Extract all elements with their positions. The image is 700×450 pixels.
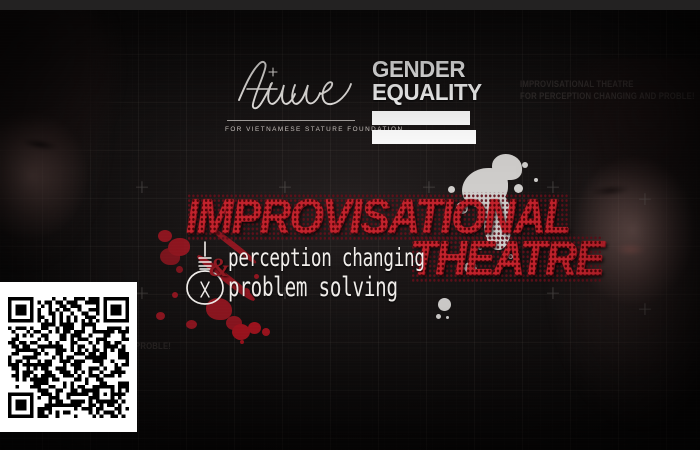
subhead-line-2: problem solving xyxy=(228,273,440,301)
subhead-line-1: perception changing xyxy=(228,246,474,271)
equality-bar-1 xyxy=(372,111,470,125)
top-letterbox-bar xyxy=(0,0,700,10)
qr-code-panel[interactable] xyxy=(0,282,137,432)
poster-canvas: ++++++++++ IMPROVISATIONAL THEATRE FOR P… xyxy=(0,0,700,450)
true-script-wordmark xyxy=(225,56,357,118)
qr-code-icon[interactable] xyxy=(8,297,129,418)
ampersand: & xyxy=(209,255,229,281)
subhead-line-2-text: problem solving xyxy=(228,271,398,302)
subhead-line-1-text: perception changing xyxy=(228,245,425,273)
equality-bar-2 xyxy=(372,130,476,144)
campaign-line-2: EQUALITY xyxy=(372,81,481,104)
logo-tagline: FOR VIETNAMESE STATURE FOUNDATION xyxy=(225,126,357,133)
campaign-line-1: GENDER xyxy=(372,58,481,81)
gender-equality-block: GENDER EQUALITY xyxy=(372,58,484,144)
true-foundation-logo: FOR VIETNAMESE STATURE FOUNDATION xyxy=(225,56,357,133)
logo-divider-rule xyxy=(227,120,355,121)
